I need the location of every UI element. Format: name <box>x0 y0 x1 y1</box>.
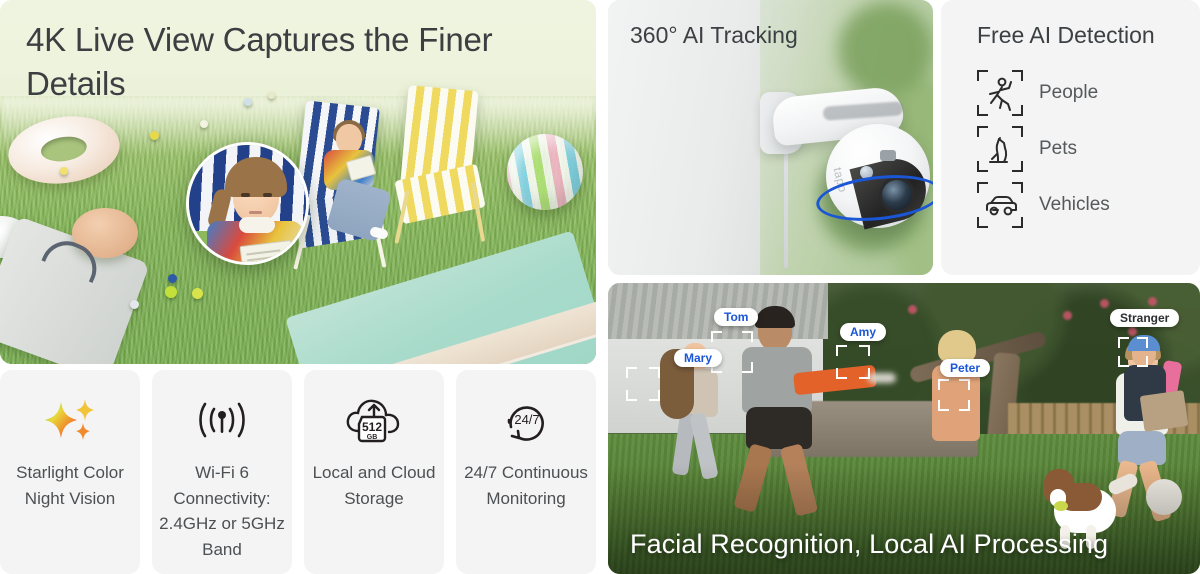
detection-item-label: Pets <box>1039 138 1077 160</box>
feature-card-storage[interactable]: 512 GB Local and Cloud Storage <box>304 370 444 574</box>
feature-card-list: Starlight Color Night Vision Wi-Fi 6 Con… <box>0 370 596 574</box>
tapo-logo-icon <box>880 150 896 161</box>
detection-item-label: People <box>1039 82 1098 104</box>
face-tag-amy[interactable]: Amy <box>840 323 886 341</box>
package-box <box>1140 390 1189 432</box>
monitoring-badge: 24/7 <box>514 412 539 427</box>
shorts <box>746 407 812 449</box>
magnifier-zoom-circle <box>186 142 309 265</box>
girl-mouth <box>249 211 262 214</box>
detection-item-vehicles[interactable]: Vehicles <box>977 177 1200 233</box>
tracking-panel: tapo 360° AI Tracking <box>608 0 933 275</box>
girl-eye <box>241 193 250 197</box>
feature-card-wifi[interactable]: Wi-Fi 6 Connectivity: 2.4GHz or 5GHz Ban… <box>152 370 292 574</box>
wifi-antenna-icon <box>193 394 251 446</box>
face-box-mary <box>626 367 660 401</box>
feature-card-label: Local and Cloud Storage <box>304 460 444 511</box>
magnifier-content <box>189 145 306 262</box>
face-tag-mary[interactable]: Mary <box>674 349 722 367</box>
lawn-ball <box>150 131 159 140</box>
dog-ball <box>1054 501 1068 511</box>
child-reading <box>318 124 380 242</box>
cloud-sd-card-icon: 512 GB <box>344 394 404 446</box>
page-title: 4K Live View Captures the Finer Details <box>26 18 546 105</box>
beach-ball <box>507 134 583 210</box>
blossom <box>908 305 917 314</box>
lawn-ball <box>60 167 68 175</box>
dog-tail <box>1106 472 1139 497</box>
product-feature-collage: 4K Live View Captures the Finer Details <box>0 0 1200 574</box>
hero-panel: 4K Live View Captures the Finer Details <box>0 0 596 364</box>
blossom <box>1063 311 1072 320</box>
face-panel-caption: Facial Recognition, Local AI Processing <box>630 529 1108 560</box>
feature-card-label: 24/7 Continuous Monitoring <box>456 460 596 511</box>
lawn-ball <box>165 286 177 298</box>
blossom <box>1148 297 1157 306</box>
sparkle-star-icon <box>42 394 98 446</box>
car-icon <box>977 182 1023 228</box>
blossom <box>1100 299 1109 308</box>
face-box-stranger <box>1118 337 1148 367</box>
face-tag-tom[interactable]: Tom <box>714 308 758 326</box>
face-tag-peter[interactable]: Peter <box>940 359 990 377</box>
person-walking-icon <box>977 70 1023 116</box>
face-box-amy <box>836 345 870 379</box>
face-recognition-panel: Tom Mary Amy Peter Stranger Facial Recog… <box>608 283 1200 574</box>
water-spray <box>868 373 896 383</box>
feature-card-label: Wi-Fi 6 Connectivity: 2.4GHz or 5GHz Ban… <box>152 460 292 562</box>
feature-card-label: Starlight Color Night Vision <box>0 460 140 511</box>
feature-card-monitoring[interactable]: 24/7 24/7 Continuous Monitoring <box>456 370 596 574</box>
sd-card-unit: GB <box>367 434 378 441</box>
lawn-ball <box>200 120 208 128</box>
face-tag-stranger[interactable]: Stranger <box>1110 309 1179 327</box>
circular-arrow-icon: 24/7 <box>498 394 554 446</box>
detection-item-people[interactable]: People <box>977 65 1200 121</box>
sd-card-capacity: 512 <box>362 420 382 434</box>
lawn-ball <box>130 300 139 309</box>
lawn-ball <box>168 274 177 283</box>
dog-sitting-icon <box>977 126 1023 172</box>
detection-title: Free AI Detection <box>977 22 1200 49</box>
detection-item-label: Vehicles <box>1039 194 1110 216</box>
lawn-ball <box>192 288 203 299</box>
girl-collar <box>239 217 275 233</box>
tracking-title: 360° AI Tracking <box>630 22 798 49</box>
detection-item-pets[interactable]: Pets <box>977 121 1200 177</box>
detection-panel: Free AI Detection People <box>941 0 1200 275</box>
girl-eye <box>263 193 272 197</box>
hair <box>938 330 976 362</box>
feature-card-starlight[interactable]: Starlight Color Night Vision <box>0 370 140 574</box>
camera-cable <box>784 146 788 268</box>
float-ring-hole <box>39 134 88 164</box>
face-box-peter <box>938 379 970 411</box>
